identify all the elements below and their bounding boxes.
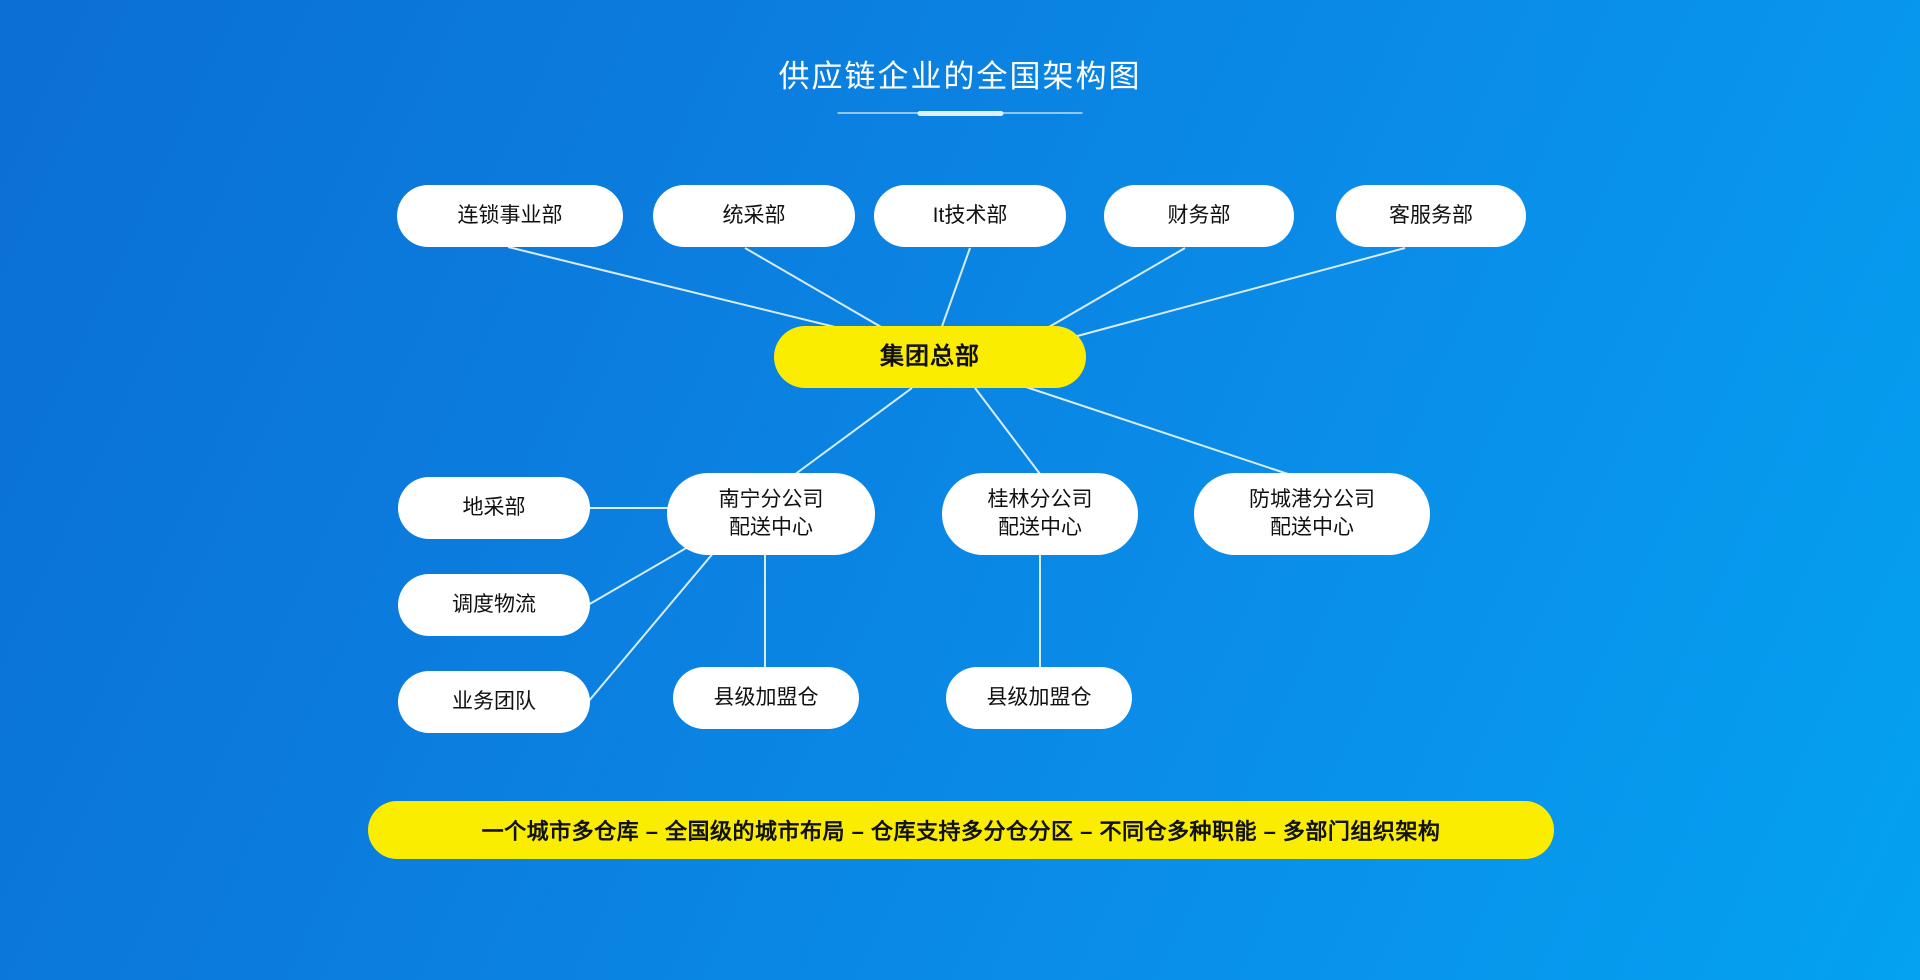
title-block: 供应链企业的全国架构图 xyxy=(0,58,1920,95)
link-hub-to-nanning xyxy=(790,388,912,478)
node-warehouse-guilin[interactable]: 县级加盟仓 xyxy=(946,667,1132,729)
node-top-department-finance[interactable]: 财务部 xyxy=(1104,185,1294,247)
link-hub-to-fangchenggang xyxy=(1020,385,1300,478)
node-top-department-customer-service[interactable]: 客服务部 xyxy=(1336,185,1526,247)
node-label: 业务团队 xyxy=(452,688,536,716)
node-label: 南宁分公司 配送中心 xyxy=(719,486,824,541)
node-branch-fangchenggang[interactable]: 防城港分公司 配送中心 xyxy=(1194,473,1430,555)
link-it-to-hub xyxy=(940,248,970,332)
node-label: 调度物流 xyxy=(452,591,536,619)
node-top-department-procurement[interactable]: 统采部 xyxy=(653,185,855,247)
link-hub-to-guilin xyxy=(975,388,1043,478)
node-warehouse-nanning[interactable]: 县级加盟仓 xyxy=(673,667,859,729)
node-label: 统采部 xyxy=(723,202,786,230)
node-label: 县级加盟仓 xyxy=(987,684,1092,712)
node-label: 连锁事业部 xyxy=(458,202,563,230)
node-support-dispatch-logistics[interactable]: 调度物流 xyxy=(398,574,590,636)
link-logistics-to-nanning xyxy=(588,540,700,605)
node-support-land-procurement[interactable]: 地采部 xyxy=(398,477,590,539)
title-underline xyxy=(838,112,1083,114)
link-procurement-to-hub xyxy=(745,248,900,338)
node-top-department-chain[interactable]: 连锁事业部 xyxy=(397,185,623,247)
title-underline-highlight xyxy=(917,111,1003,116)
link-service-to-hub xyxy=(1055,248,1405,342)
footer-summary-banner: 一个城市多仓库 – 全国级的城市布局 – 仓库支持多分仓分区 – 不同仓多种职能… xyxy=(368,801,1554,859)
node-label: 防城港分公司 配送中心 xyxy=(1249,486,1375,541)
node-label: 桂林分公司 配送中心 xyxy=(988,486,1093,541)
org-chart-canvas: 供应链企业的全国架构图 连锁事业部 统采 xyxy=(0,0,1920,980)
node-label: 集团总部 xyxy=(880,341,980,373)
page-title: 供应链企业的全国架构图 xyxy=(0,58,1920,95)
node-label: It技术部 xyxy=(933,202,1008,230)
node-branch-nanning[interactable]: 南宁分公司 配送中心 xyxy=(667,473,875,555)
node-label: 地采部 xyxy=(463,494,526,522)
node-label: 县级加盟仓 xyxy=(714,684,819,712)
node-support-sales-team[interactable]: 业务团队 xyxy=(398,671,590,733)
node-group-headquarters[interactable]: 集团总部 xyxy=(774,326,1086,388)
link-chain-to-hub xyxy=(508,247,880,338)
node-top-department-it[interactable]: It技术部 xyxy=(874,185,1066,247)
node-branch-guilin[interactable]: 桂林分公司 配送中心 xyxy=(942,473,1138,555)
node-label: 财务部 xyxy=(1168,202,1231,230)
node-label: 客服务部 xyxy=(1389,202,1473,230)
link-finance-to-hub xyxy=(1030,248,1185,338)
footer-summary-text: 一个城市多仓库 – 全国级的城市布局 – 仓库支持多分仓分区 – 不同仓多种职能… xyxy=(482,814,1441,846)
